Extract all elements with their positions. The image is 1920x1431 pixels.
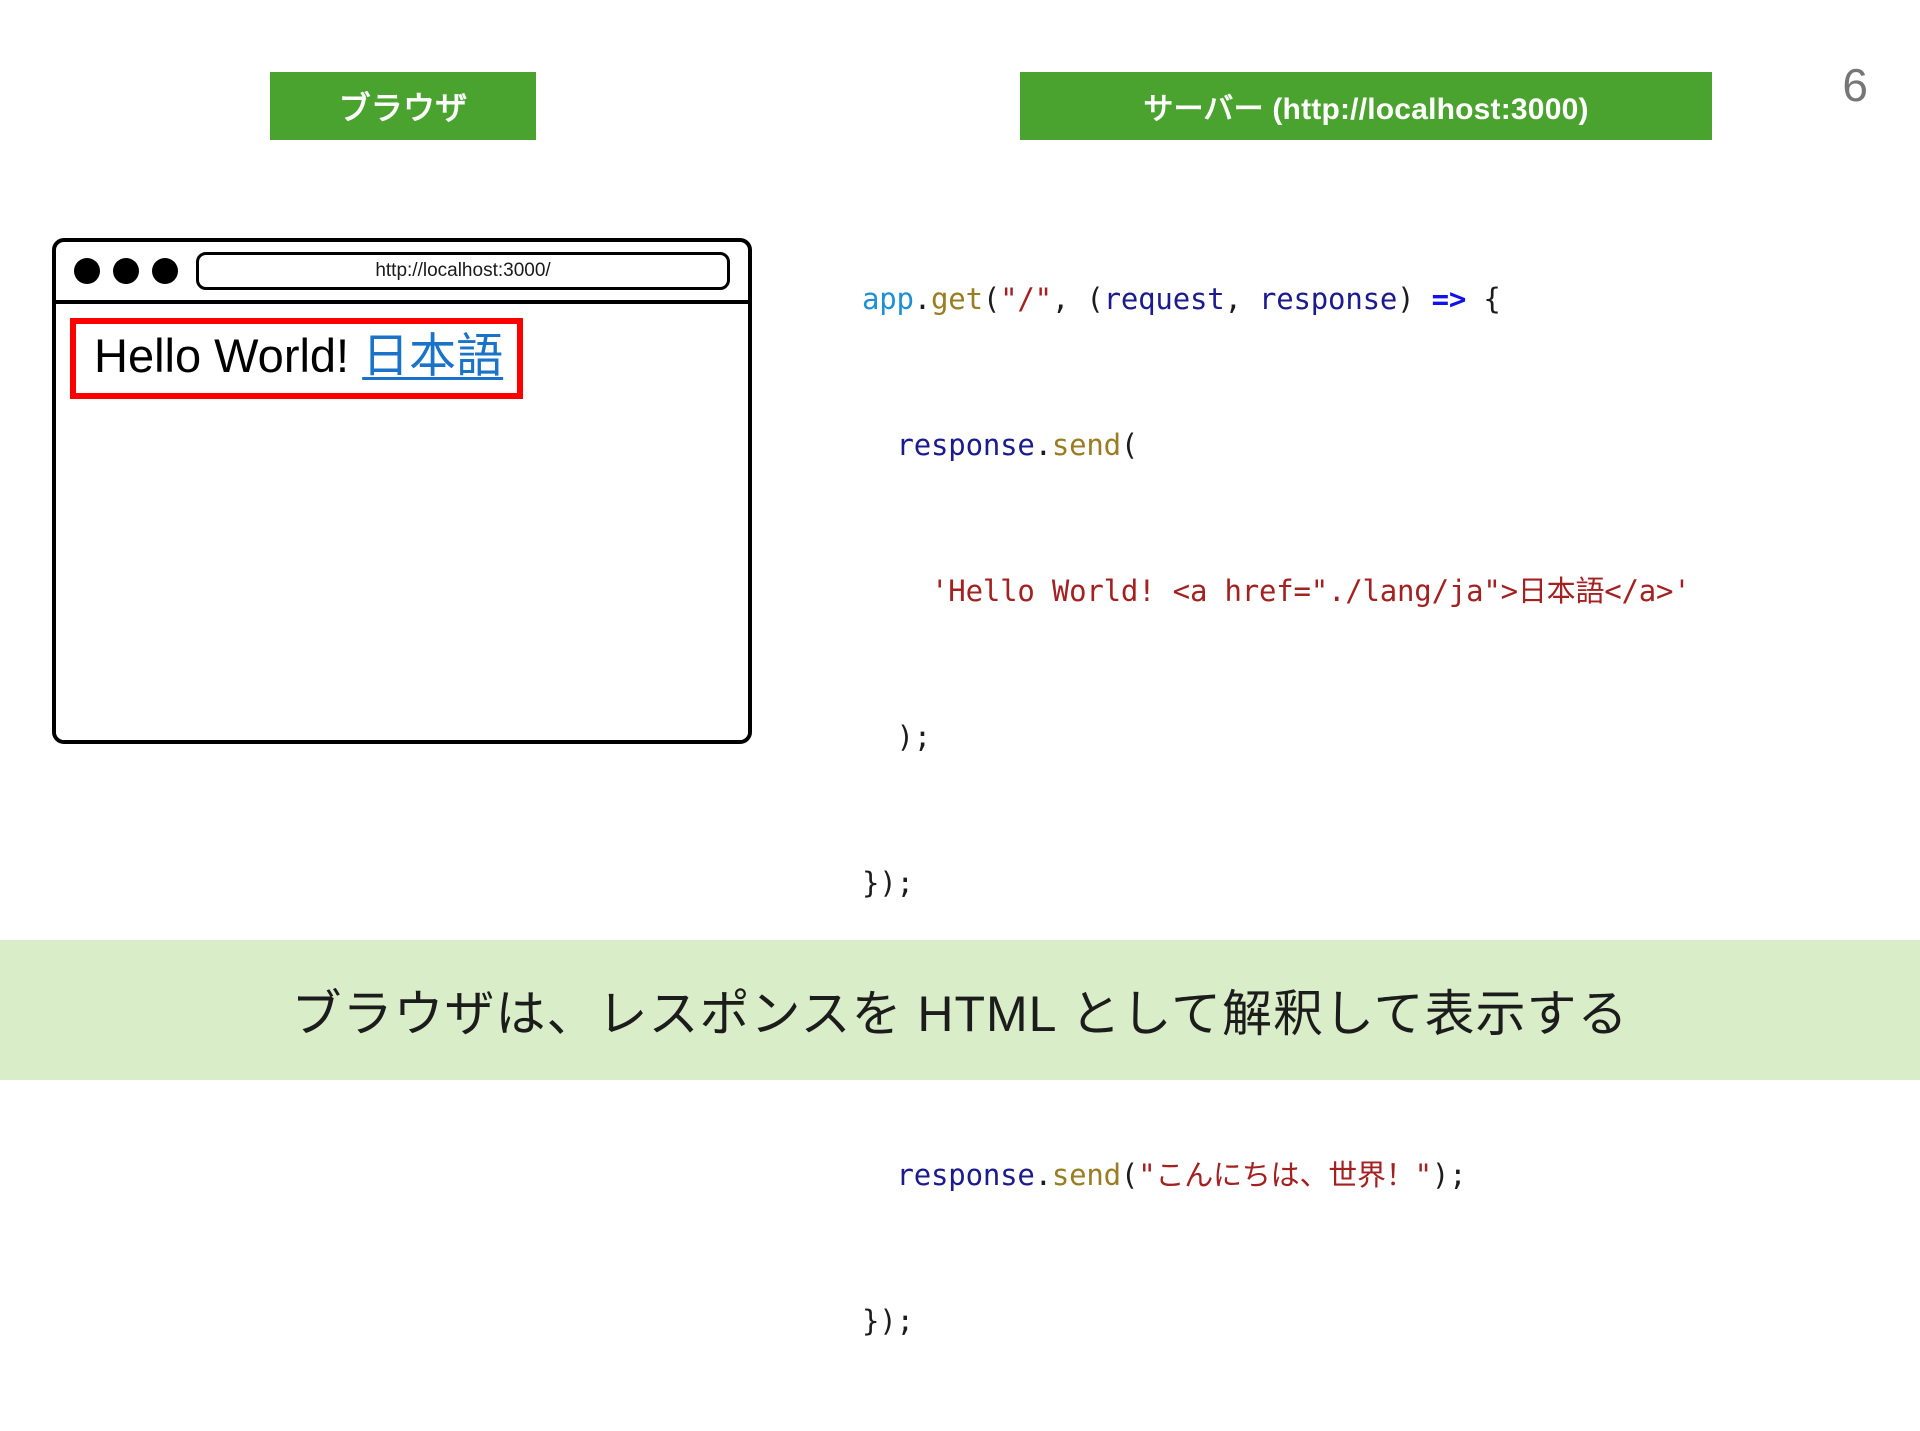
code-line-1: app.get("/", (request, response) => {	[862, 263, 1872, 336]
minimize-dot-icon[interactable]	[113, 258, 139, 284]
rendered-output-highlight: Hello World! 日本語	[70, 318, 523, 399]
badge-server: サーバー (http://localhost:3000)	[1020, 72, 1712, 140]
code-token-dot-4: .	[1035, 1158, 1052, 1192]
footer-banner: ブラウザは、レスポンスを HTML として解釈して表示する	[0, 940, 1920, 1080]
code-token-paren-open-2: (	[1121, 428, 1138, 462]
code-token-response-obj-2: response	[897, 1158, 1035, 1192]
code-token-paren-close: )	[1397, 282, 1432, 316]
code-token-html-string: 'Hello World! <a href="./lang/ja">日本語</a…	[931, 574, 1691, 608]
code-token-comma-paren: , (	[1052, 282, 1104, 316]
maximize-dot-icon[interactable]	[152, 258, 178, 284]
code-token-get: get	[931, 282, 983, 316]
code-line-4: );	[862, 701, 1872, 774]
badge-browser: ブラウザ	[270, 72, 536, 140]
code-token-dot-2: .	[1035, 428, 1052, 462]
code-line-7: response.send("こんにちは、世界！");	[862, 1139, 1872, 1212]
code-token-paren-open: (	[983, 282, 1000, 316]
badge-server-label: サーバー (http://localhost:3000)	[1143, 84, 1588, 128]
code-token-close-call: );	[897, 720, 932, 754]
code-token-send: send	[1052, 428, 1121, 462]
page-number: 6	[1842, 62, 1868, 108]
code-token-request: request	[1104, 282, 1225, 316]
code-token-param-comma: ,	[1224, 282, 1259, 316]
code-token-arrow: =>	[1432, 282, 1467, 316]
code-line-2: response.send(	[862, 409, 1872, 482]
browser-viewport: Hello World! 日本語	[56, 304, 748, 740]
rendered-anchor-link[interactable]: 日本語	[362, 329, 503, 382]
address-bar[interactable]: http://localhost:3000/	[196, 252, 730, 290]
close-dot-icon[interactable]	[74, 258, 100, 284]
window-controls	[74, 258, 178, 284]
server-code-block: app.get("/", (request, response) => { re…	[862, 190, 1872, 1431]
code-token-close-call-2: );	[1432, 1158, 1467, 1192]
browser-chrome: http://localhost:3000/	[56, 242, 748, 304]
code-line-3: 'Hello World! <a href="./lang/ja">日本語</a…	[862, 555, 1872, 628]
code-line-8: });	[862, 1285, 1872, 1358]
rendered-page-text: Hello World! 日本語	[94, 330, 503, 383]
code-token-close-handler-2: });	[862, 1304, 914, 1338]
code-token-close-handler: });	[862, 866, 914, 900]
code-token-app: app	[862, 282, 914, 316]
code-token-response: response	[1259, 282, 1397, 316]
rendered-plain-text: Hello World!	[94, 329, 362, 382]
code-line-5: });	[862, 847, 1872, 920]
code-token-route-root: "/"	[1000, 282, 1052, 316]
code-token-dot: .	[914, 282, 931, 316]
badge-browser-label: ブラウザ	[339, 83, 468, 129]
code-token-japanese-string: "こんにちは、世界！"	[1138, 1158, 1432, 1192]
browser-window-mockup: http://localhost:3000/ Hello World! 日本語	[52, 238, 752, 744]
code-token-response-obj: response	[897, 428, 1035, 462]
code-token-send-2: send	[1052, 1158, 1121, 1192]
address-bar-value: http://localhost:3000/	[375, 260, 550, 282]
code-token-paren-open-4: (	[1121, 1158, 1138, 1192]
footer-caption: ブラウザは、レスポンスを HTML として解釈して表示する	[291, 974, 1628, 1046]
code-token-brace-open: {	[1466, 282, 1501, 316]
